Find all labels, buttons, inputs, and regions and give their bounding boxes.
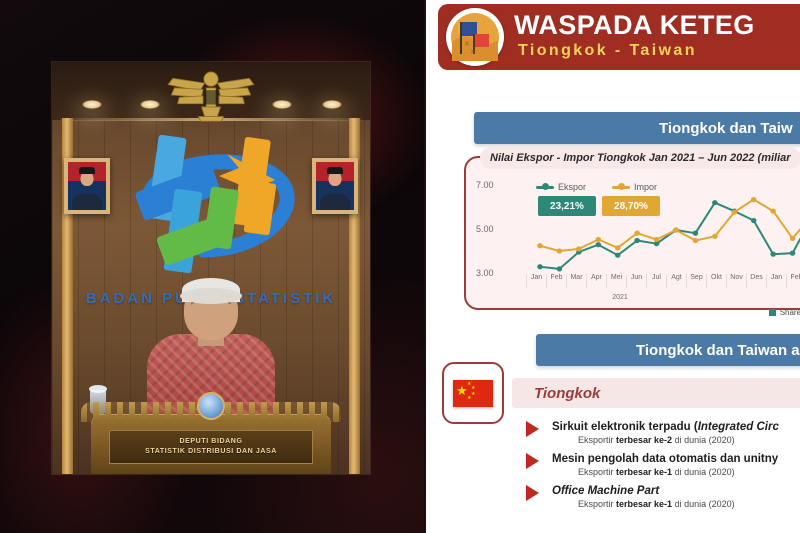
commodity-name-text: Mesin pengolah data otomatis dan unitny bbox=[552, 453, 778, 465]
triangle-bullet-icon bbox=[526, 453, 539, 469]
list-item: Office Machine Part Eksportir terbesar k… bbox=[522, 484, 800, 511]
presentation-slide: ✕ ✕ WASPADA KETEG Tiongkok - Taiwan Tion… bbox=[426, 0, 800, 533]
list-item: Sirkuit elektronik terpadu (Integrated C… bbox=[522, 420, 800, 447]
triangle-bullet-icon bbox=[526, 421, 539, 437]
x-tick-label: Sep bbox=[686, 274, 706, 288]
podium-line-1: DEPUTI BIDANG bbox=[179, 437, 242, 447]
chart-card: Nilai Ekspor - Impor Tiongkok Jan 2021 –… bbox=[464, 156, 800, 310]
commodity-name: Office Machine Part bbox=[552, 484, 800, 498]
commodity-name: Mesin pengolah data otomatis dan unitny bbox=[552, 452, 800, 466]
ceiling-light-icon bbox=[272, 100, 292, 109]
commodity-name-italic: Integrated Circ bbox=[698, 421, 779, 433]
commodity-name-text: Sirkuit elektronik terpadu ( bbox=[552, 421, 698, 433]
share-legend-swatch bbox=[769, 309, 776, 316]
official-portrait bbox=[64, 158, 110, 214]
share-legend-label: Share T bbox=[780, 308, 800, 317]
chart-x-axis: JanFebMarAprMeiJunJulAgtSepOktNovDesJanF… bbox=[526, 274, 800, 288]
x-tick-label: Agt bbox=[666, 274, 686, 288]
commodity-rank: Eksportir terbesar ke-1 di dunia (2020) bbox=[552, 466, 800, 479]
x-tick-label: Jul bbox=[646, 274, 666, 288]
podium-seal-icon bbox=[197, 392, 225, 420]
country-name-row: Tiongkok bbox=[512, 378, 800, 408]
x-tick-label: Jun bbox=[626, 274, 646, 288]
official-portrait bbox=[312, 158, 358, 214]
x-tick-label: Feb bbox=[546, 274, 566, 288]
triangle-bullet-icon bbox=[526, 485, 539, 501]
section-band-1: Tiongkok dan Taiw bbox=[474, 112, 800, 144]
country-flag-box: ★★★ ★★ bbox=[442, 362, 504, 424]
svg-text:✕: ✕ bbox=[464, 41, 470, 48]
podium-line-2: STATISTIK DISTRIBUSI DAN JASA bbox=[145, 447, 277, 457]
video-feed: BADAN PUSAT STATISTIK DEPUTI BIDANG STA bbox=[52, 62, 370, 474]
chart-lines bbox=[526, 180, 800, 278]
screenshot-root: BADAN PUSAT STATISTIK DEPUTI BIDANG STA bbox=[0, 0, 800, 533]
svg-text:✕: ✕ bbox=[470, 49, 476, 56]
x-tick-label: Mar bbox=[566, 274, 586, 288]
chart-plot-area: 7.00 5.00 3.00 Ekspor Impor 23,21% 28,70… bbox=[474, 180, 800, 304]
two-flags-map-icon: ✕ ✕ bbox=[446, 8, 504, 66]
commodity-rank: Eksportir terbesar ke-1 di dunia (2020) bbox=[552, 498, 800, 511]
export-commodity-list: Sirkuit elektronik terpadu (Integrated C… bbox=[522, 420, 800, 516]
y-tick-label: 7.00 bbox=[476, 180, 494, 190]
podium-nameplate: DEPUTI BIDANG STATISTIK DISTRIBUSI DAN J… bbox=[109, 430, 313, 464]
slide-title: WASPADA KETEG bbox=[514, 10, 755, 41]
ceiling-light-icon bbox=[322, 100, 342, 109]
x-tick-label: Nov bbox=[726, 274, 746, 288]
x-tick-label: Okt bbox=[706, 274, 726, 288]
share-legend-note: Share T bbox=[769, 308, 800, 317]
x-tick-label: Jan bbox=[526, 274, 546, 288]
list-item: Mesin pengolah data otomatis dan unitny … bbox=[522, 452, 800, 479]
y-tick-label: 5.00 bbox=[476, 224, 494, 234]
x-tick-label: Des bbox=[746, 274, 766, 288]
commodity-rank: Eksportir terbesar ke-2 di dunia (2020) bbox=[552, 434, 800, 447]
commodity-name: Sirkuit elektronik terpadu (Integrated C… bbox=[552, 420, 800, 434]
ceiling-light-icon bbox=[140, 100, 160, 109]
bps-logo-icon bbox=[107, 114, 315, 294]
x-tick-label: Jan bbox=[766, 274, 786, 288]
commodity-name-italic: Office Machine Part bbox=[552, 485, 659, 497]
chart-title: Nilai Ekspor - Impor Tiongkok Jan 2021 –… bbox=[480, 147, 800, 169]
x-tick-label: Apr bbox=[586, 274, 606, 288]
x-tick-label: Mei bbox=[606, 274, 626, 288]
ceiling-light-icon bbox=[82, 100, 102, 109]
section-band-2: Tiongkok dan Taiwan a bbox=[536, 334, 800, 366]
x-tick-label: Feb bbox=[786, 274, 800, 288]
video-panel: BADAN PUSAT STATISTIK DEPUTI BIDANG STA bbox=[0, 0, 424, 533]
china-flag-icon: ★★★ ★★ bbox=[453, 380, 493, 407]
x-axis-year-label: 2021 bbox=[526, 294, 714, 301]
slide-subtitle: Tiongkok - Taiwan bbox=[518, 42, 697, 60]
podium: DEPUTI BIDANG STATISTIK DISTRIBUSI DAN J… bbox=[91, 414, 331, 474]
y-tick-label: 3.00 bbox=[476, 268, 494, 278]
slide-header: ✕ ✕ WASPADA KETEG Tiongkok - Taiwan bbox=[438, 4, 800, 70]
